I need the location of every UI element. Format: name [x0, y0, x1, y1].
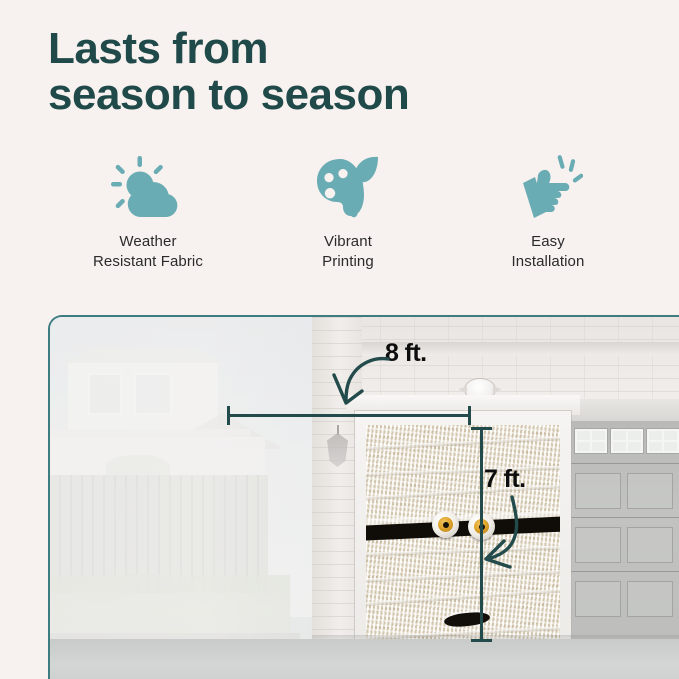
- page-title: Lasts from season to season: [48, 26, 608, 118]
- feature-item-easy-installation: Easy Installation: [448, 152, 648, 272]
- height-dimension-label: 7 ft.: [484, 467, 525, 492]
- neighbor-door-seam: [571, 517, 679, 518]
- neighbor-door-window: [575, 429, 607, 453]
- feature-label-weather-resistant-fabric: Weather Resistant Fabric: [93, 232, 203, 272]
- feature-label-line-1: Vibrant: [322, 232, 374, 252]
- mummy-mouth: [443, 611, 490, 629]
- pointing-hand-icon: [513, 152, 583, 224]
- neighbor-door-panel: [627, 581, 673, 617]
- width-dimension-cap-right: [468, 406, 471, 425]
- gauze-fold: [366, 588, 560, 607]
- neighbor-door-panel: [575, 527, 621, 563]
- headline-line-2: season to season: [48, 72, 608, 118]
- driveway: [50, 639, 679, 679]
- neighbor-door-panel: [627, 527, 673, 563]
- neighbor-door-panel: [575, 473, 621, 509]
- feature-label-line-2: Installation: [512, 252, 585, 272]
- feature-item-vibrant-printing: Vibrant Printing: [248, 152, 448, 272]
- height-dimension-cap-bottom: [471, 639, 492, 642]
- feature-item-weather-resistant-fabric: Weather Resistant Fabric: [48, 152, 248, 272]
- neighbor-door-window: [647, 429, 679, 453]
- neighbor-door-panel: [627, 473, 673, 509]
- product-photo-panel: 8 ft. 7 ft.: [48, 315, 679, 679]
- feature-label-vibrant-printing: Vibrant Printing: [322, 232, 374, 272]
- iris: [438, 517, 453, 532]
- feature-label-line-1: Weather: [93, 232, 203, 252]
- gauze-fold: [366, 465, 560, 477]
- product-infographic: Lasts from season to season: [0, 0, 679, 679]
- height-callout-arrow: [482, 495, 544, 575]
- neighbor-door-window: [611, 429, 643, 453]
- feature-label-line-2: Printing: [322, 252, 374, 272]
- headline-line-1: Lasts from: [48, 26, 608, 72]
- background-haze-overlay: [50, 317, 312, 679]
- sun-cloud-icon: [110, 152, 186, 224]
- gauze-fold: [366, 435, 560, 451]
- product-photo: 8 ft. 7 ft.: [50, 317, 679, 679]
- neighbor-door-seam: [571, 463, 679, 464]
- feature-label-line-1: Easy: [512, 232, 585, 252]
- width-dimension-cap-left: [227, 406, 230, 425]
- neighbor-door-panel: [575, 581, 621, 617]
- feature-label-easy-installation: Easy Installation: [512, 232, 585, 272]
- pupil: [443, 522, 449, 528]
- mummy-eye-left: [432, 511, 459, 538]
- feature-list: Weather Resistant Fabric: [48, 152, 648, 272]
- neighbor-garage-door: [571, 421, 679, 643]
- paint-palette-brush-icon: [316, 152, 380, 224]
- height-dimension-cap-top: [471, 427, 492, 430]
- feature-label-line-2: Resistant Fabric: [93, 252, 203, 272]
- width-callout-arrow: [322, 353, 392, 415]
- neighbor-door-seam: [571, 571, 679, 572]
